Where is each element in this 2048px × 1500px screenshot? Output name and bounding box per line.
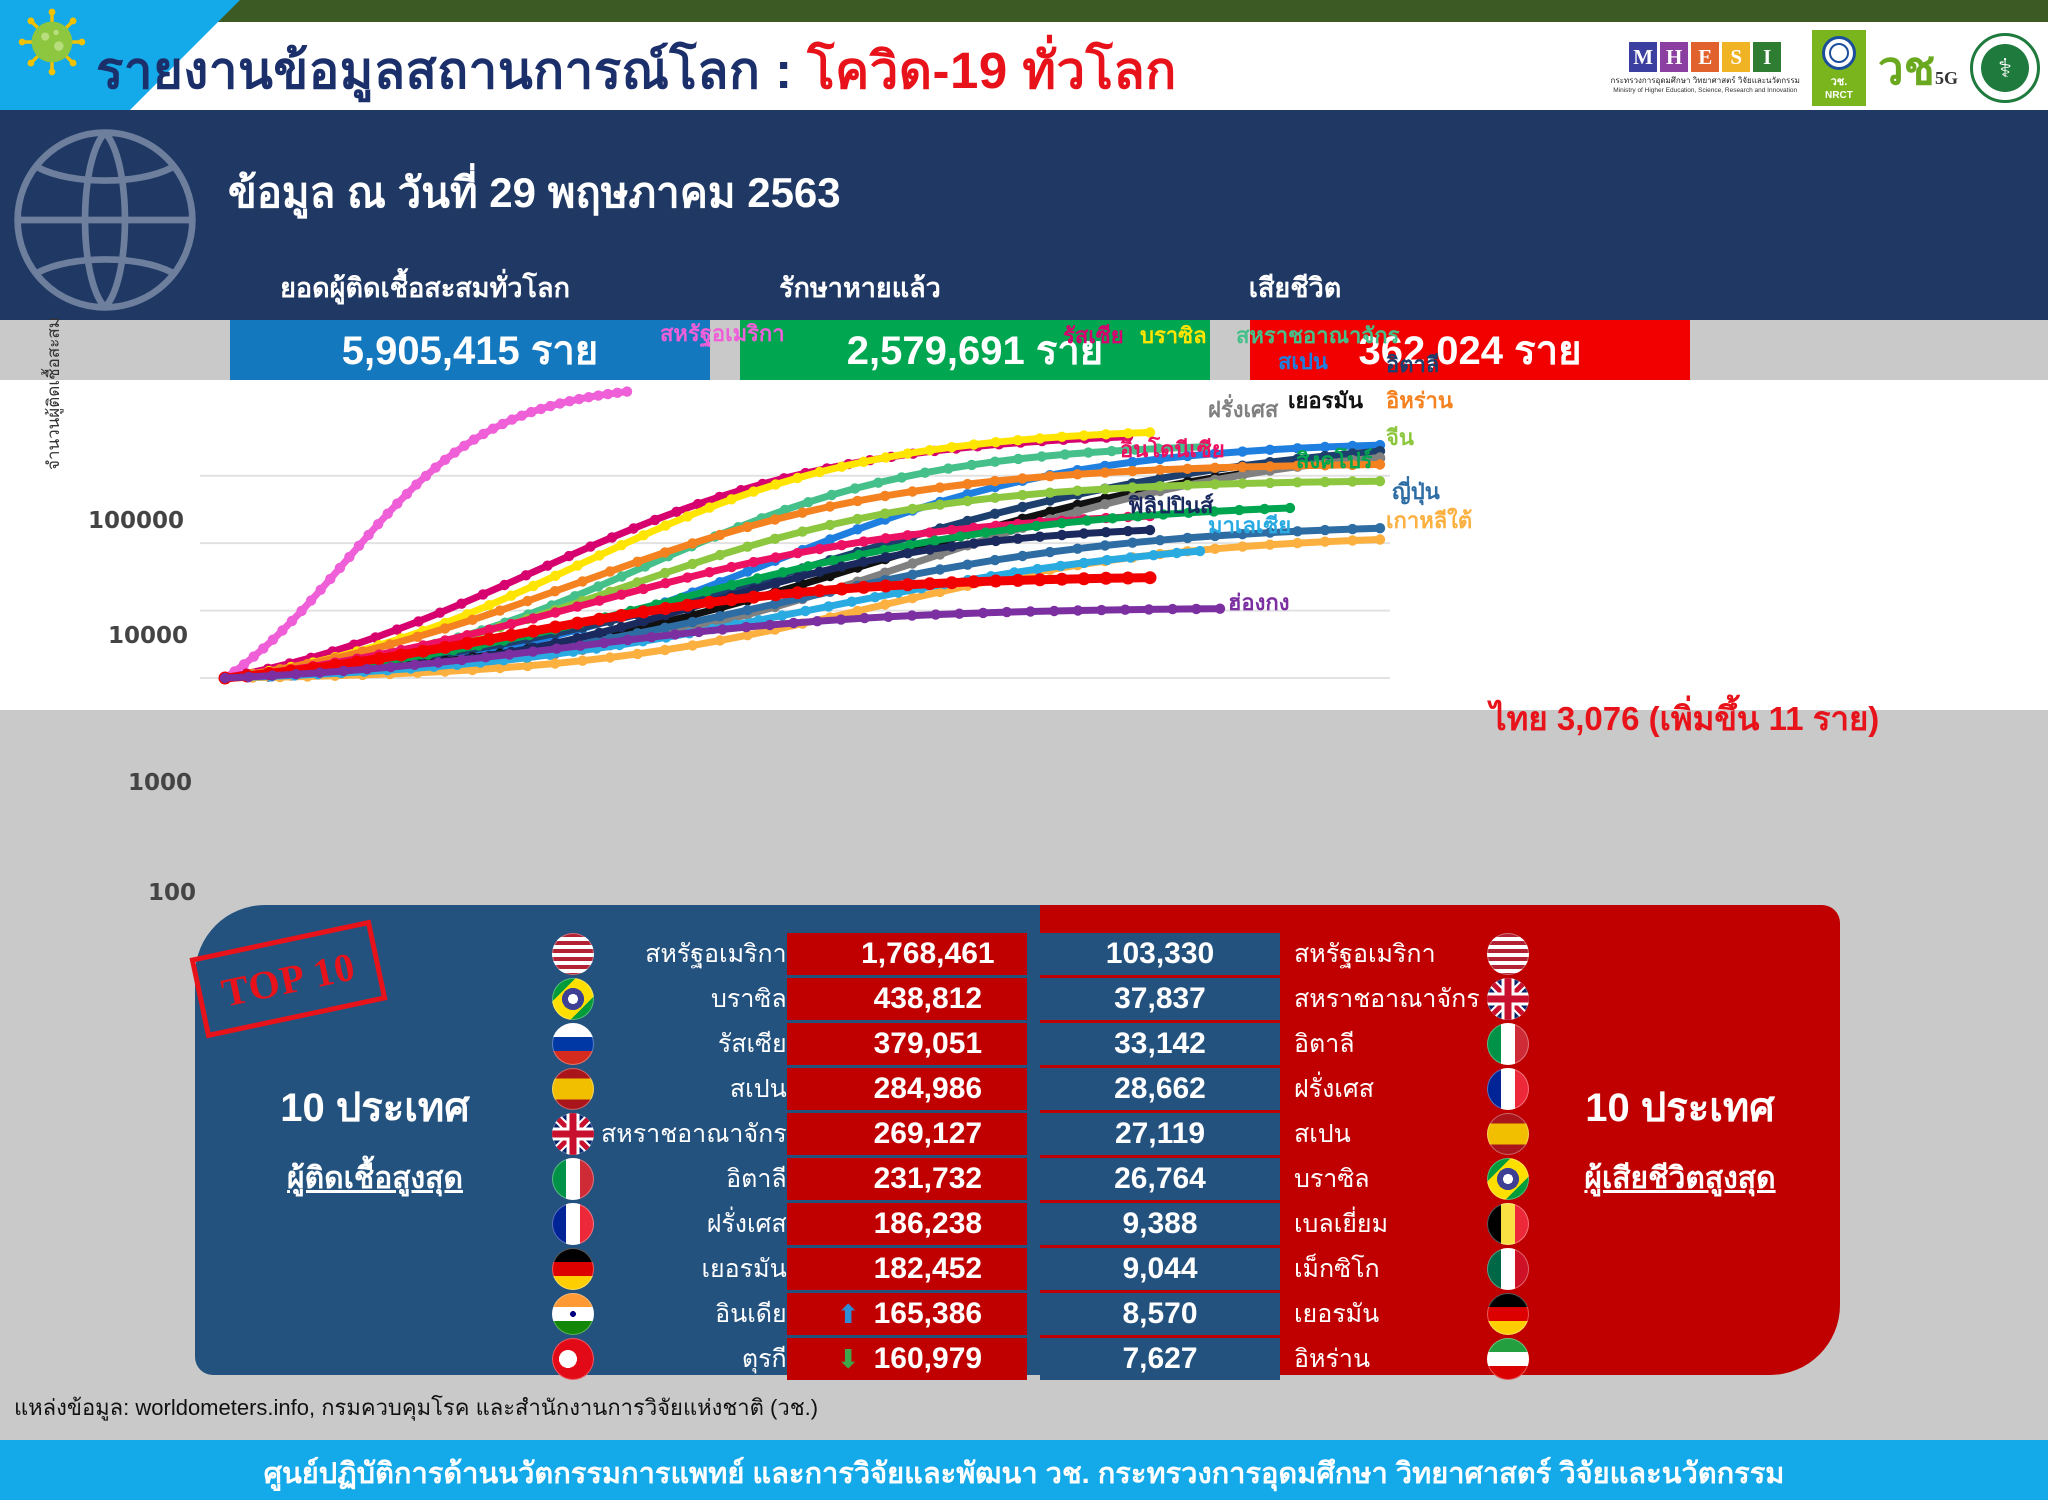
- cases-panel-title: 10 ประเทศ: [215, 1075, 535, 1139]
- mhesi-thai-name: กระทรวงการอุดมศึกษา วิทยาศาสตร์ วิจัยและ…: [1610, 74, 1799, 87]
- footer-bar-text: ศูนย์ปฏิบัติการด้านนวัตกรรมการแพทย์ และก…: [0, 1450, 2048, 1496]
- flag-cell: [1480, 933, 1536, 975]
- y-axis-title: จำนวนผู้ติดเชื้อสะสม: [40, 220, 67, 470]
- flag-icon-it: [552, 1158, 594, 1200]
- flag-icon-ru: [552, 1023, 594, 1065]
- case-count: 269,127: [787, 1113, 1027, 1155]
- stat-label-cases: ยอดผู้ติดเชื้อสะสมทั่วโลก: [230, 266, 620, 309]
- flag-cell: [1480, 1293, 1536, 1335]
- table-row: 33,142อิตาลี: [1040, 1023, 1536, 1065]
- country-name: สเปน: [601, 1068, 787, 1110]
- table-row: 8,570เยอรมัน: [1040, 1293, 1536, 1335]
- case-count: 284,986: [787, 1068, 1027, 1110]
- flag-icon-es: [1487, 1113, 1529, 1155]
- death-count: 8,570: [1040, 1293, 1280, 1335]
- case-count: ⬇ 160,979: [787, 1338, 1027, 1380]
- flag-icon-in: [552, 1293, 594, 1335]
- page-title-red: โควิด-19 ทั่วโลก: [807, 42, 1176, 99]
- top-green-strip: [0, 0, 2048, 22]
- flag-cell: [545, 1248, 601, 1290]
- series-label-ฟิลิปปินส์: ฟิลิปปินส์: [1128, 488, 1213, 523]
- country-name: ฝรั่งเศส: [601, 1203, 787, 1245]
- wch-text: วช: [1878, 43, 1935, 94]
- flag-icon-fr: [552, 1203, 594, 1245]
- y-tick-100: 100: [148, 880, 196, 906]
- flag-cell: [545, 1158, 601, 1200]
- death-count: 37,837: [1040, 978, 1280, 1020]
- coronavirus-icon: [18, 8, 86, 76]
- country-name: เม็กซิโก: [1280, 1248, 1480, 1290]
- table-row: ฝรั่งเศส 186,238: [545, 1203, 1027, 1245]
- flag-cell: [1480, 1158, 1536, 1200]
- flag-cell: [545, 978, 601, 1020]
- series-label-สิงคโปร์: สิงคโปร์: [1296, 443, 1372, 478]
- data-source-note: แหล่งข้อมูล: worldometers.info, กรมควบคุ…: [14, 1390, 818, 1425]
- death-count: 26,764: [1040, 1158, 1280, 1200]
- table-row: 28,662ฝรั่งเศส: [1040, 1068, 1536, 1110]
- flag-icon-be: [1487, 1203, 1529, 1245]
- series-label-เยอรมัน: เยอรมัน: [1288, 383, 1363, 418]
- country-name: อิหร่าน: [1280, 1338, 1480, 1380]
- table-row: 103,330สหรัฐอเมริกา: [1040, 933, 1536, 975]
- nrct-logo: วช. NRCT: [1812, 30, 1866, 106]
- country-name: เยอรมัน: [601, 1248, 787, 1290]
- country-name: บราซิล: [601, 978, 787, 1020]
- flag-cell: [1480, 1248, 1536, 1290]
- table-row: เยอรมัน 182,452: [545, 1248, 1027, 1290]
- caduceus-icon: ⚕: [1981, 44, 2029, 92]
- table-row: 9,044เม็กซิโก: [1040, 1248, 1536, 1290]
- wch-5g-logo: วช5G: [1878, 32, 1958, 105]
- table-row: 9,388เบลเยี่ยม: [1040, 1203, 1536, 1245]
- nrct-thai-abbr: วช.: [1831, 72, 1848, 90]
- nrct-wheel-icon: [1822, 36, 1856, 70]
- flag-cell: [1480, 1338, 1536, 1380]
- case-count: 438,812: [787, 978, 1027, 1020]
- flag-icon-br: [1487, 1158, 1529, 1200]
- case-count: 1,768,461: [787, 933, 1027, 975]
- flag-icon-tr: [552, 1338, 594, 1380]
- y-tick-100000: 100000: [88, 508, 184, 534]
- country-name: อิตาลี: [1280, 1023, 1480, 1065]
- mhesi-letter-h: H: [1660, 42, 1688, 72]
- case-count: 379,051: [787, 1023, 1027, 1065]
- country-name: สหราชอาณาจักร: [601, 1113, 787, 1155]
- deaths-panel-title: 10 ประเทศ: [1520, 1075, 1840, 1139]
- flag-cell: [1480, 1068, 1536, 1110]
- flag-icon-de: [552, 1248, 594, 1290]
- death-count: 27,119: [1040, 1113, 1280, 1155]
- series-label-รัสเซีย: รัสเซีย: [1063, 318, 1124, 353]
- country-name: ฝรั่งเศส: [1280, 1068, 1480, 1110]
- flag-cell: [1480, 1203, 1536, 1245]
- flag-cell: [1480, 1023, 1536, 1065]
- flag-cell: [545, 1113, 601, 1155]
- flag-icon-us: [552, 933, 594, 975]
- chart-curves-svg: [0, 380, 2048, 710]
- country-name: บราซิล: [1280, 1158, 1480, 1200]
- trend-up-icon: ⬆: [837, 1299, 859, 1329]
- table-row: 26,764บราซิล: [1040, 1158, 1536, 1200]
- death-count: 103,330: [1040, 933, 1280, 975]
- death-count: 33,142: [1040, 1023, 1280, 1065]
- series-label-สหรัฐอเมริกา: สหรัฐอเมริกา: [660, 316, 785, 351]
- country-name: สหรัฐอเมริกา: [1280, 933, 1480, 975]
- country-name: สเปน: [1280, 1113, 1480, 1155]
- flag-icon-es: [552, 1068, 594, 1110]
- case-count: 186,238: [787, 1203, 1027, 1245]
- series-label-เกาหลีใต้: เกาหลีใต้: [1386, 503, 1472, 538]
- series-label-บราซิล: บราซิล: [1140, 318, 1207, 353]
- top10-cases-table: สหรัฐอเมริกา 1,768,461บราซิล 438,812รัสเ…: [545, 930, 1027, 1383]
- country-name: สหรัฐอเมริกา: [601, 933, 787, 975]
- series-label-อิตาลี: อิตาลี: [1386, 347, 1439, 382]
- flag-icon-mx: [1487, 1248, 1529, 1290]
- country-name: อิตาลี: [601, 1158, 787, 1200]
- series-label-สเปน: สเปน: [1278, 344, 1328, 379]
- country-name: อินเดีย: [601, 1293, 787, 1335]
- table-row: ตุรกี⬇ 160,979: [545, 1338, 1027, 1380]
- flag-cell: [1480, 978, 1536, 1020]
- mhesi-logo: M H E S I กระทรวงการอุดมศึกษา วิทยาศาสตร…: [1610, 42, 1799, 94]
- flag-cell: [545, 1338, 601, 1380]
- cases-panel-subtitle: ผู้ติดเชื้อสูงสุด: [215, 1155, 535, 1202]
- table-row: 7,627อิหร่าน: [1040, 1338, 1536, 1380]
- country-name: เยอรมัน: [1280, 1293, 1480, 1335]
- deaths-panel-subtitle: ผู้เสียชีวิตสูงสุด: [1500, 1155, 1860, 1202]
- table-row: บราซิล 438,812: [545, 978, 1027, 1020]
- case-count: 182,452: [787, 1248, 1027, 1290]
- flag-icon-us: [1487, 933, 1529, 975]
- table-row: สหราชอาณาจักร 269,127: [545, 1113, 1027, 1155]
- top10-deaths-table: 103,330สหรัฐอเมริกา37,837สหราชอาณาจักร33…: [1040, 930, 1536, 1383]
- stat-bars-row: 5,905,415 ราย 2,579,691 ราย 362,024 ราย: [0, 320, 2048, 380]
- flag-icon-gb: [552, 1113, 594, 1155]
- nrct-abbr: NRCT: [1825, 90, 1853, 101]
- flag-cell: [545, 1293, 601, 1335]
- flag-icon-it: [1487, 1023, 1529, 1065]
- table-row: อิตาลี 231,732: [545, 1158, 1027, 1200]
- table-row: 37,837สหราชอาณาจักร: [1040, 978, 1536, 1020]
- country-name: รัสเซีย: [601, 1023, 787, 1065]
- flag-icon-ir: [1487, 1338, 1529, 1380]
- mhesi-letter-i: I: [1753, 42, 1781, 72]
- infographic-page: รายงานข้อมูลสถานการณ์โลก : โควิด-19 ทั่ว…: [0, 0, 2048, 1500]
- trend-down-icon: ⬇: [837, 1344, 859, 1374]
- page-title-black: รายงานข้อมูลสถานการณ์โลก :: [96, 42, 807, 99]
- table-row: สหรัฐอเมริกา 1,768,461: [545, 933, 1027, 975]
- death-count: 9,388: [1040, 1203, 1280, 1245]
- wch-5g-text: 5G: [1935, 68, 1958, 88]
- stat-value-cases: 5,905,415 ราย: [230, 320, 710, 380]
- logo-group: M H E S I กระทรวงการอุดมศึกษา วิทยาศาสตร…: [1610, 26, 2040, 110]
- flag-cell: [545, 933, 601, 975]
- thailand-annotation: ไทย 3,076 (เพิ่มขึ้น 11 ราย): [1490, 692, 1879, 745]
- table-row: 27,119สเปน: [1040, 1113, 1536, 1155]
- flag-icon-gb: [1487, 978, 1529, 1020]
- mhesi-letter-s: S: [1722, 42, 1750, 72]
- country-name: เบลเยี่ยม: [1280, 1203, 1480, 1245]
- series-label-อิหร่าน: อิหร่าน: [1386, 383, 1453, 418]
- page-title: รายงานข้อมูลสถานการณ์โลก : โควิด-19 ทั่ว…: [96, 30, 1177, 111]
- table-row: รัสเซีย 379,051: [545, 1023, 1027, 1065]
- death-count: 7,627: [1040, 1338, 1280, 1380]
- table-row: สเปน 284,986: [545, 1068, 1027, 1110]
- case-count: ⬆ 165,386: [787, 1293, 1027, 1335]
- y-tick-1000: 1000: [128, 770, 192, 796]
- death-count: 28,662: [1040, 1068, 1280, 1110]
- flag-icon-de: [1487, 1293, 1529, 1335]
- series-label-ฮ่องกง: ฮ่องกง: [1228, 585, 1289, 620]
- flag-cell: [545, 1068, 601, 1110]
- moph-logo: ⚕: [1970, 33, 2040, 103]
- stat-labels-row: ยอดผู้ติดเชื้อสะสมทั่วโลก รักษาหายแล้ว เ…: [0, 266, 2048, 308]
- stat-label-recovered: รักษาหายแล้ว: [665, 266, 1055, 309]
- stat-label-deaths: เสียชีวิต: [1100, 266, 1490, 309]
- series-label-ฝรั่งเศส: ฝรั่งเศส: [1208, 392, 1278, 427]
- mhesi-letter-m: M: [1629, 42, 1657, 72]
- y-tick-10000: 10000: [108, 623, 188, 649]
- flag-cell: [545, 1023, 601, 1065]
- series-label-มาเลเซีย: มาเลเซีย: [1208, 508, 1291, 543]
- series-label-อินโดนีเซีย: อินโดนีเซีย: [1120, 432, 1225, 467]
- country-name: สหราชอาณาจักร: [1280, 978, 1480, 1020]
- report-date: ข้อมูล ณ วันที่ 29 พฤษภาคม 2563: [228, 160, 841, 226]
- epidemic-curve-chart: [0, 380, 2048, 710]
- flag-cell: [545, 1203, 601, 1245]
- mhesi-english-name: Ministry of Higher Education, Science, R…: [1613, 87, 1797, 94]
- flag-icon-br: [552, 978, 594, 1020]
- country-name: ตุรกี: [601, 1338, 787, 1380]
- case-count: 231,732: [787, 1158, 1027, 1200]
- flag-cell: [1480, 1113, 1536, 1155]
- table-row: อินเดีย⬆ 165,386: [545, 1293, 1027, 1335]
- flag-icon-fr: [1487, 1068, 1529, 1110]
- death-count: 9,044: [1040, 1248, 1280, 1290]
- mhesi-letter-e: E: [1691, 42, 1719, 72]
- series-label-จีน: จีน: [1386, 420, 1414, 455]
